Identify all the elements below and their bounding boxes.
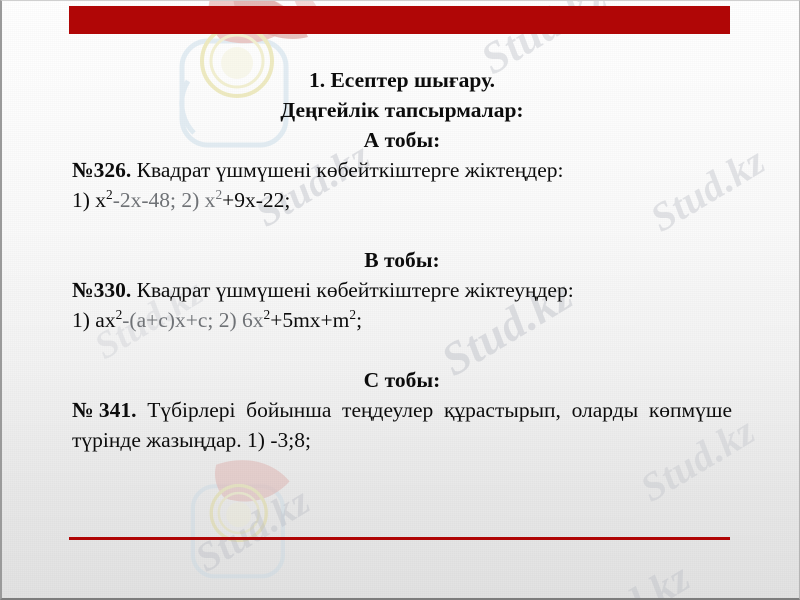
group-b-item-1-tail: -(a+c)x+c;	[122, 308, 218, 332]
group-a-task-line: №326. Квадрат үшмүшені көбейткіштерге жі…	[72, 155, 732, 185]
group-a-items: 1) x2-2x-48; 2) x2+9x-22;	[72, 185, 732, 215]
group-b-task-text: Квадрат үшмүшені көбейткіштерге жіктеуңд…	[131, 278, 573, 302]
group-a-item-2-tail: +9x-22;	[222, 188, 290, 212]
group-c-task-text: Түбірлері бойынша теңдеулер құрастырып, …	[72, 398, 732, 452]
group-a-number: №326.	[72, 158, 131, 182]
group-a-item-1: 1) x	[72, 188, 106, 212]
group-b-task-line: №330. Квадрат үшмүшені көбейткіштерге жі…	[72, 275, 732, 305]
group-b-number: №330.	[72, 278, 131, 302]
group-a-item-2: 2) x	[181, 188, 215, 212]
group-b-title: В тобы:	[72, 245, 732, 275]
stud-kz-text-watermark: Stud.kz	[187, 477, 318, 581]
stud-kz-logo-watermark-secondary	[180, 453, 330, 598]
stud-kz-text-watermark: Stud.kz	[562, 554, 699, 598]
slide-body: 1. Есептер шығару. Деңгейлік тапсырмалар…	[72, 65, 732, 455]
slide-canvas: Stud.kzStud.kzStud.kzStud.kzStud.kzStud.…	[0, 0, 800, 600]
group-b-item-2-tail: ;	[356, 308, 362, 332]
group-a-item-1-tail: -2x-48;	[113, 188, 182, 212]
heading-sub: Деңгейлік тапсырмалар:	[72, 95, 732, 125]
group-a-title: А тобы:	[72, 125, 732, 155]
heading-main: 1. Есептер шығару.	[72, 65, 732, 95]
group-b-item-1: 1) ax	[72, 308, 116, 332]
top-red-bar	[69, 6, 730, 34]
spacer-b-c	[72, 335, 732, 365]
group-b-items: 1) ax2-(a+c)x+c; 2) 6x2+5mx+m2;	[72, 305, 732, 335]
group-b-item-2: 2) 6x	[219, 308, 264, 332]
group-c-title: С тобы:	[72, 365, 732, 395]
group-a-item-1-exponent: 2	[106, 187, 113, 202]
group-a-task-text: Квадрат үшмүшені көбейткіштерге жіктеңде…	[131, 158, 563, 182]
spacer-a-b	[72, 215, 732, 245]
group-c-number: №341.	[72, 398, 137, 422]
bottom-red-rule	[69, 537, 730, 540]
group-c-task-line: №341. Түбірлері бойынша теңдеулер құраст…	[72, 395, 732, 455]
group-b-item-2-mid: +5mx+m	[270, 308, 349, 332]
